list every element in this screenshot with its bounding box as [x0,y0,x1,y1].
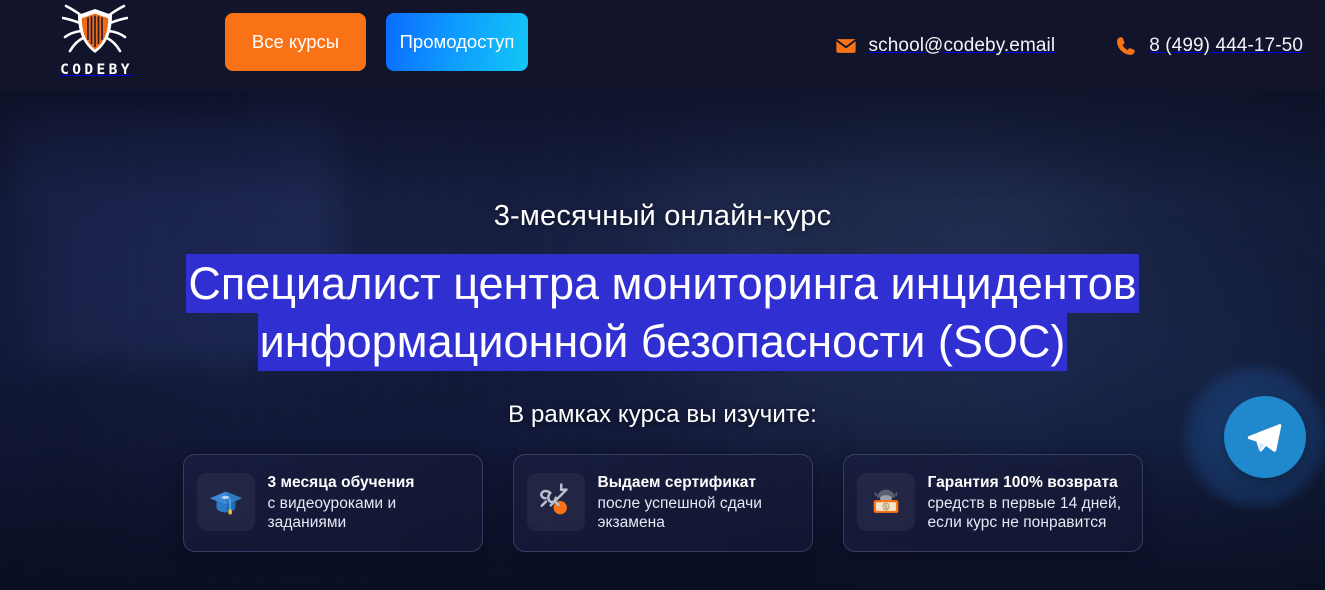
money-back-icon: $ [867,483,905,521]
phone-icon [1115,35,1137,57]
graduation-cap-icon [207,483,245,521]
spider-shield-logo-icon [62,4,128,62]
email-text: school@codeby.email [869,35,1056,57]
feature-cards: 3 месяца обучения с видеоуроками и задан… [183,454,1143,552]
telegram-chat-button[interactable] [1224,396,1306,478]
envelope-icon [835,35,857,57]
phone-contact[interactable]: 8 (499) 444-17-50 [1115,35,1303,57]
card-icon-tile [197,473,255,531]
email-contact[interactable]: school@codeby.email [835,35,1056,57]
header-contacts: school@codeby.email 8 (499) 444-17-50 [835,0,1303,91]
promo-access-button[interactable]: Промодоступ [386,13,528,71]
hero-eyebrow: 3-месячный онлайн-курс [494,201,832,233]
phone-text: 8 (499) 444-17-50 [1149,35,1303,57]
card-description: после успешной сдачи экзамена [598,494,798,533]
feature-card-guarantee: $ Гарантия 100% возврата средств в первы… [843,454,1143,552]
feature-card-certificate: Выдаем сертификат после успешной сдачи э… [513,454,813,552]
card-title: 3 месяца обучения [268,473,468,493]
card-description: средств в первые 14 дней, если курс не п… [928,494,1128,533]
hero-section: 3-месячный онлайн-курс Специалист центра… [0,91,1325,590]
certificate-medal-icon [537,483,575,521]
headline-line-1: Специалист центра мониторинга инцидентов [186,254,1138,313]
site-header: CODEBY Все курсы Промодоступ school@code… [0,0,1325,91]
page-title: Специалист центра мониторинга инцидентов… [0,255,1325,371]
logo-wordmark: CODEBY [57,63,133,78]
headline-line-2: информационной безопасности (SOC) [258,312,1068,371]
all-courses-button[interactable]: Все курсы [225,13,366,71]
telegram-paper-plane-icon [1245,419,1283,457]
site-logo[interactable]: CODEBY [43,4,147,84]
card-icon-tile: $ [857,473,915,531]
landing-page: CODEBY Все курсы Промодоступ school@code… [0,0,1325,590]
feature-card-duration: 3 месяца обучения с видеоуроками и задан… [183,454,483,552]
card-icon-tile [527,473,585,531]
card-title: Гарантия 100% возврата [928,473,1128,493]
hero-subtitle: В рамках курса вы изучите: [508,401,817,429]
card-description: с видеоуроками и заданиями [268,494,468,533]
card-title: Выдаем сертификат [598,473,798,493]
svg-text:$: $ [884,504,888,511]
